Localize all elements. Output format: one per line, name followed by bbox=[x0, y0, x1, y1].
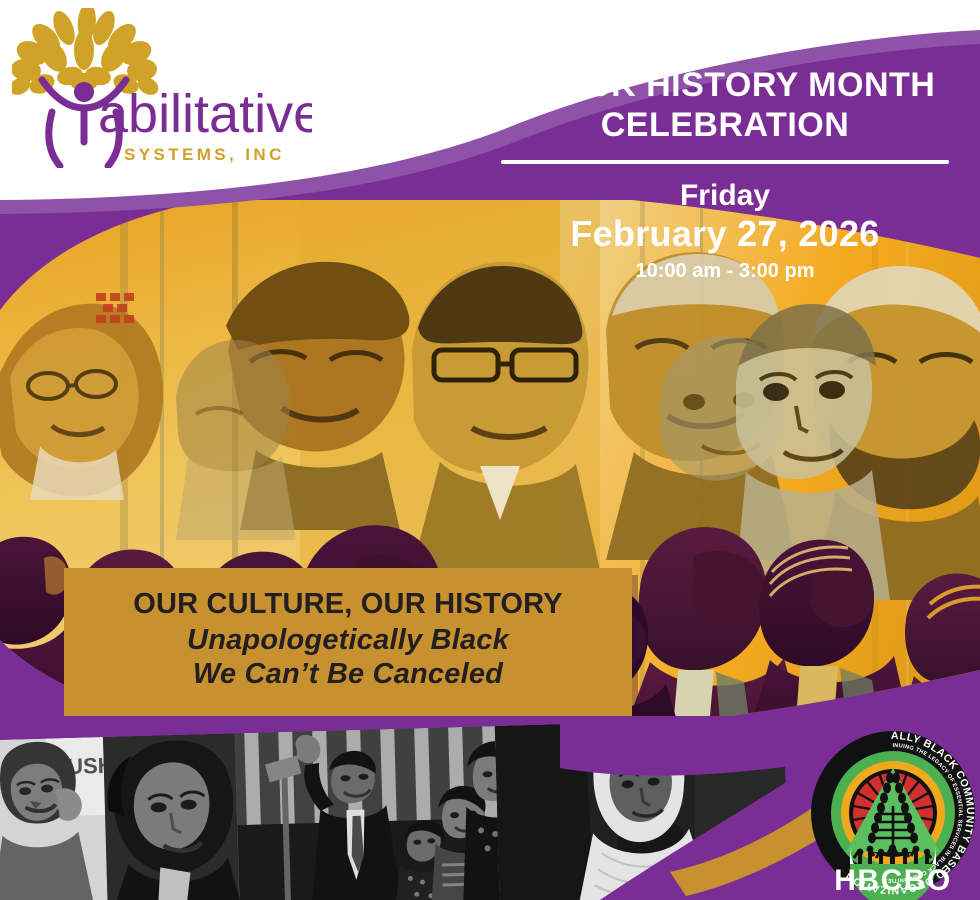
angela-davis-photo bbox=[103, 733, 239, 900]
event-time: 10:00 am - 3:00 pm bbox=[480, 258, 970, 284]
harriet-tubman-photo bbox=[495, 718, 788, 900]
header-title-line2: CELEBRATION bbox=[480, 106, 970, 146]
theme-banner: OUR CULTURE, OUR HISTORY Unapologeticall… bbox=[64, 568, 632, 716]
event-day: Friday bbox=[480, 178, 970, 213]
obama-family-photo bbox=[235, 726, 501, 900]
theme-line-2: Unapologetically Black bbox=[187, 624, 509, 658]
habilitative-systems-logo: abilitative SYSTEMS, INC bbox=[12, 8, 312, 168]
header-divider bbox=[501, 160, 949, 164]
seal-acronym: HBCBO bbox=[834, 864, 952, 897]
header-title-line1: BLACK HISTORY MONTH bbox=[480, 66, 970, 106]
logo-wordmark: abilitative bbox=[98, 84, 312, 144]
theme-line-1: OUR CULTURE, OUR HISTORY bbox=[133, 588, 563, 620]
header-text-block: BLACK HISTORY MONTH CELEBRATION Friday F… bbox=[480, 66, 970, 284]
hbcbo-seal-logo: HISTORICALLY BLACK COMMUNITY BASED ORGAN… bbox=[808, 728, 978, 900]
flyer-canvas: abilitative SYSTEMS, INC BLACK HISTORY M… bbox=[0, 0, 980, 900]
jesse-jackson-photo: PUSH bbox=[0, 737, 108, 900]
event-date: February 27, 2026 bbox=[480, 213, 970, 255]
theme-line-3: We Can’t Be Canceled bbox=[193, 658, 503, 692]
historic-photo-strip: PUSH bbox=[0, 718, 789, 900]
logo-subtext: SYSTEMS, INC bbox=[124, 145, 285, 164]
